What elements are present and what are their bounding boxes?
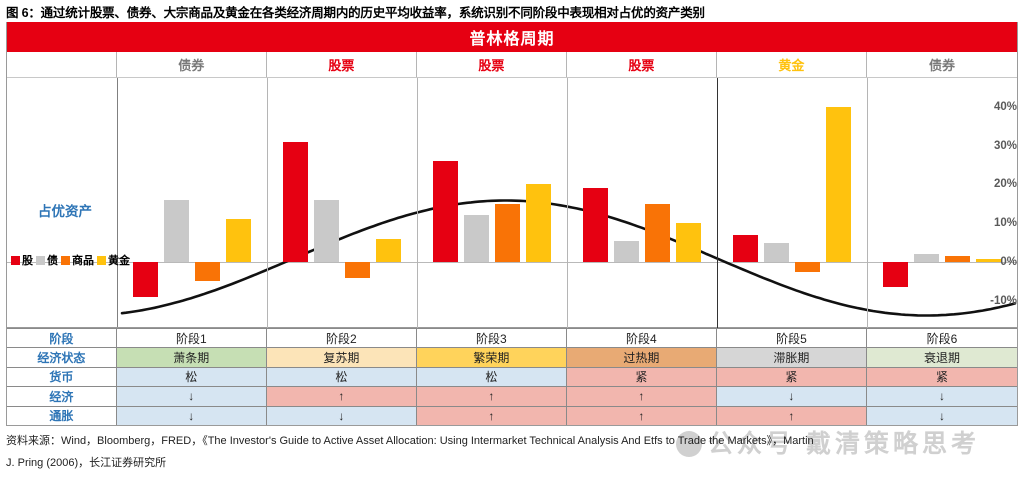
- cell-通胀-phase-2: ↓: [267, 407, 417, 425]
- table-row: 阶段阶段1阶段2阶段3阶段4阶段5阶段6: [7, 328, 1017, 347]
- cell-货币-phase-4: 紧: [567, 368, 717, 386]
- bar-商品-phase-4: [645, 204, 670, 262]
- row-header-经济: 经济: [7, 387, 117, 405]
- cell-经济状态-phase-2: 复苏期: [267, 348, 417, 366]
- cell-经济状态-phase-1: 萧条期: [117, 348, 267, 366]
- source-line-1: 资料来源：Wind，Bloomberg，FRED，《The Investor's…: [6, 430, 1018, 452]
- cell-阶段-phase-4: 阶段4: [567, 329, 717, 347]
- cell-货币-phase-5: 紧: [717, 368, 867, 386]
- bar-商品-phase-3: [495, 204, 520, 262]
- cell-经济状态-phase-3: 繁荣期: [417, 348, 567, 366]
- cell-经济-phase-3: ↑: [417, 387, 567, 405]
- legend-item-股: 股: [11, 252, 33, 268]
- cell-通胀-phase-5: ↑: [717, 407, 867, 425]
- winner-row-spacer: [7, 52, 117, 77]
- row-header-经济状态: 经济状态: [7, 348, 117, 366]
- winner-asset-row: 债券股票股票股票黄金债券: [7, 52, 1017, 78]
- winner-asset-phase-6: 债券: [867, 52, 1017, 77]
- table-row: 通胀↓↓↑↑↑↓: [7, 406, 1017, 425]
- y-axis-tick-10%: 10%: [917, 217, 1017, 229]
- bar-股-phase-4: [583, 188, 608, 262]
- bar-黄金-phase-5: [826, 107, 851, 262]
- winner-asset-phase-3: 股票: [417, 52, 567, 77]
- y-axis-line: [117, 78, 118, 328]
- cell-经济-phase-6: ↓: [867, 387, 1017, 405]
- table-row: 经济↓↑↑↑↓↓: [7, 386, 1017, 405]
- cell-通胀-phase-3: ↑: [417, 407, 567, 425]
- cell-经济状态-phase-6: 衰退期: [867, 348, 1017, 366]
- bar-黄金-phase-1: [226, 219, 251, 262]
- source-line-2: J. Pring (2006)，长江证券研究所: [6, 452, 1018, 474]
- bar-股-phase-3: [433, 161, 458, 262]
- phase-divider-4: [717, 78, 718, 328]
- y-axis-tick-20%: 20%: [917, 178, 1017, 190]
- legend-item-商品: 商品: [61, 252, 94, 268]
- figure-caption: 图 6：通过统计股票、债券、大宗商品及黄金在各类经济周期内的历史平均收益率，系统…: [6, 2, 1018, 20]
- bar-黄金-phase-3: [526, 184, 551, 262]
- y-axis-tick-30%: 30%: [917, 140, 1017, 152]
- cell-货币-phase-1: 松: [117, 368, 267, 386]
- phase-divider-1: [267, 78, 268, 328]
- legend-swatch-黄金: [97, 256, 106, 265]
- bar-商品-phase-2: [345, 262, 370, 278]
- cell-阶段-phase-6: 阶段6: [867, 329, 1017, 347]
- legend-item-债: 债: [36, 252, 58, 268]
- chart-title: 普林格周期: [469, 25, 554, 49]
- legend-label: 商品: [72, 252, 94, 268]
- table-row: 货币松松松紧紧紧: [7, 367, 1017, 386]
- cell-经济-phase-2: ↑: [267, 387, 417, 405]
- legend-label: 股: [22, 252, 33, 268]
- winner-asset-phase-1: 债券: [117, 52, 267, 77]
- cell-货币-phase-6: 紧: [867, 368, 1017, 386]
- y-axis-tick-40%: 40%: [917, 101, 1017, 113]
- winner-asset-phase-2: 股票: [267, 52, 417, 77]
- bar-股-phase-6: [883, 262, 908, 287]
- y-axis-title: 占优资产: [15, 200, 115, 220]
- cell-经济状态-phase-5: 滞胀期: [717, 348, 867, 366]
- legend-swatch-商品: [61, 256, 70, 265]
- zero-baseline: [7, 262, 1017, 263]
- cell-通胀-phase-1: ↓: [117, 407, 267, 425]
- bar-股-phase-2: [283, 142, 308, 262]
- bar-债-phase-3: [464, 215, 489, 262]
- bar-债-phase-5: [764, 243, 789, 262]
- chart-legend: 股债商品黄金: [11, 252, 151, 268]
- cell-阶段-phase-1: 阶段1: [117, 329, 267, 347]
- legend-swatch-债: [36, 256, 45, 265]
- row-header-货币: 货币: [7, 368, 117, 386]
- chart-title-banner: 普林格周期: [7, 22, 1017, 52]
- source-footnote: 资料来源：Wind，Bloomberg，FRED，《The Investor's…: [6, 430, 1018, 474]
- bar-商品-phase-1: [195, 262, 220, 281]
- y-axis-tick--10%: -10%: [917, 295, 1017, 307]
- winner-asset-phase-5: 黄金: [717, 52, 867, 77]
- cell-货币-phase-2: 松: [267, 368, 417, 386]
- phase-divider-2: [417, 78, 418, 328]
- phase-divider-3: [567, 78, 568, 328]
- bar-商品-phase-6: [945, 256, 970, 262]
- bar-商品-phase-5: [795, 262, 820, 272]
- bar-债-phase-1: [164, 200, 189, 262]
- bar-债-phase-4: [614, 241, 639, 262]
- winner-asset-phase-4: 股票: [567, 52, 717, 77]
- bar-债-phase-6: [914, 254, 939, 262]
- cycle-attribute-table: 阶段阶段1阶段2阶段3阶段4阶段5阶段6经济状态萧条期复苏期繁荣期过热期滞胀期衰…: [7, 328, 1017, 425]
- cell-通胀-phase-4: ↑: [567, 407, 717, 425]
- bar-股-phase-5: [733, 235, 758, 262]
- chart-plot-area: -10%0%10%20%30%40%占优资产: [7, 78, 1017, 328]
- cell-经济-phase-1: ↓: [117, 387, 267, 405]
- cell-货币-phase-3: 松: [417, 368, 567, 386]
- row-header-通胀: 通胀: [7, 407, 117, 425]
- cell-通胀-phase-6: ↓: [867, 407, 1017, 425]
- bar-黄金-phase-4: [676, 223, 701, 262]
- cell-经济-phase-5: ↓: [717, 387, 867, 405]
- bar-黄金-phase-6: [976, 259, 1001, 262]
- legend-label: 黄金: [108, 252, 130, 268]
- bar-黄金-phase-2: [376, 239, 401, 262]
- cell-阶段-phase-3: 阶段3: [417, 329, 567, 347]
- legend-label: 债: [47, 252, 58, 268]
- cell-经济-phase-4: ↑: [567, 387, 717, 405]
- row-header-阶段: 阶段: [7, 329, 117, 347]
- legend-swatch-股: [11, 256, 20, 265]
- table-row: 经济状态萧条期复苏期繁荣期过热期滞胀期衰退期: [7, 347, 1017, 366]
- cell-阶段-phase-5: 阶段5: [717, 329, 867, 347]
- legend-item-黄金: 黄金: [97, 252, 130, 268]
- phase-divider-5: [867, 78, 868, 328]
- figure-container: 普林格周期 债券股票股票股票黄金债券 -10%0%10%20%30%40%占优资…: [6, 22, 1018, 426]
- cell-经济状态-phase-4: 过热期: [567, 348, 717, 366]
- cell-阶段-phase-2: 阶段2: [267, 329, 417, 347]
- bar-债-phase-2: [314, 200, 339, 262]
